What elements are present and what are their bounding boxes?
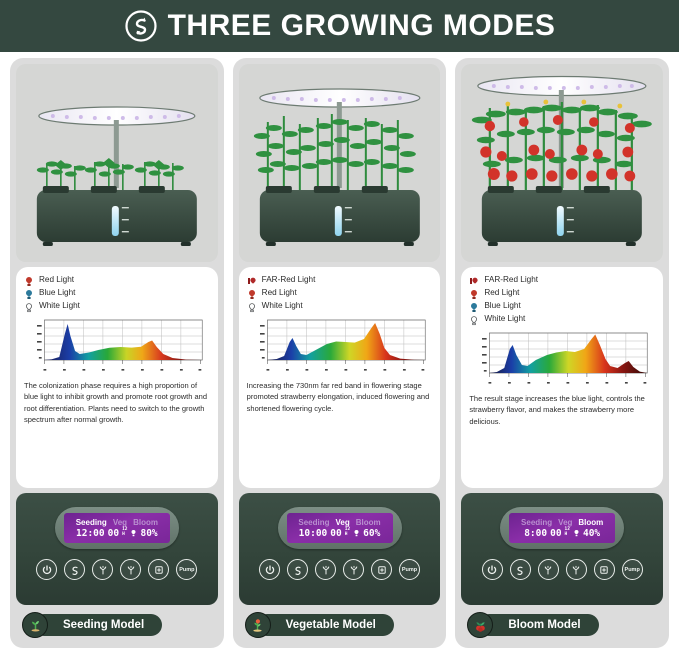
control-panel-vegetable: Seeding Veg Bloom 10:00 00 12H 60%	[239, 493, 441, 605]
lcd-unit: 12H	[122, 528, 127, 537]
spectrum-card-vegetable: FAR-Red Light Red Light White Light	[239, 267, 441, 488]
sprout-icon	[22, 612, 48, 638]
legend-item: White Light	[247, 300, 433, 311]
lcd-timer: 12:00	[76, 528, 105, 539]
far-red-bulb-icon	[247, 274, 257, 285]
lcd-readout: 10:00 00 12H 60%	[299, 528, 381, 539]
legend-label: FAR-Red Light	[262, 275, 316, 284]
lcd-mode-bloom: Bloom	[356, 518, 381, 527]
power-icon[interactable]	[36, 559, 57, 580]
touch-button-row: Pump	[259, 559, 420, 580]
legend-label: White Light	[39, 301, 80, 310]
fan-icon[interactable]	[148, 559, 169, 580]
spectrum-chart-seeding	[24, 314, 210, 376]
mode-cycle-icon[interactable]	[510, 559, 531, 580]
plant-light-icon[interactable]	[538, 559, 559, 580]
far-red-bulb-icon	[469, 274, 479, 285]
blue-bulb-icon	[469, 300, 479, 311]
lcd-mode-row: Seeding Veg Bloom	[521, 518, 603, 527]
spectrum-chart-bloom	[469, 327, 655, 389]
white-bulb-icon	[247, 300, 257, 311]
lcd-mode-row: Seeding Veg Bloom	[76, 518, 158, 527]
lcd-bezel: Seeding Veg Bloom 10:00 00 12H 60%	[278, 507, 402, 549]
control-panel-seeding: Seeding Veg Bloom 12:00 00 12H 80%	[16, 493, 218, 605]
lcd-bezel: Seeding Veg Bloom 12:00 00 12H 80%	[55, 507, 179, 549]
lcd-timer: 8:00	[524, 528, 547, 539]
product-photo-seeding	[16, 64, 218, 262]
legend-item: FAR-Red Light	[469, 274, 655, 285]
control-panel-bloom: Seeding Veg Bloom 8:00 00 12H 40%	[461, 493, 663, 605]
flowering-plant-icon	[245, 612, 271, 638]
lcd-brightness-value: 80%	[140, 528, 157, 539]
lcd-brightness-value: 40%	[583, 528, 600, 539]
lcd-brightness-value: 60%	[363, 528, 380, 539]
legend-item: Red Light	[24, 274, 210, 285]
lcd-display[interactable]: Seeding Veg Bloom 10:00 00 12H 60%	[287, 513, 393, 543]
pump-label: Pump	[625, 567, 640, 573]
legend-label: Red Light	[262, 288, 297, 297]
spectrum-card-bloom: FAR-Red Light Red Light Blue Light	[461, 267, 663, 488]
model-badge-vegetable: Vegetable Model	[239, 610, 441, 640]
lcd-mode-seeding: Seeding	[76, 518, 107, 527]
lcd-mode-seeding: Seeding	[298, 518, 329, 527]
power-icon[interactable]	[482, 559, 503, 580]
plant-light-icon[interactable]	[315, 559, 336, 580]
lcd-mode-row: Seeding Veg Bloom	[298, 518, 380, 527]
mode-cycle-icon[interactable]	[64, 559, 85, 580]
product-photo-bloom	[461, 64, 663, 262]
spectrum-legend-bloom: FAR-Red Light Red Light Blue Light	[469, 274, 655, 324]
pump-label: Pump	[402, 567, 417, 573]
red-bulb-icon	[247, 287, 257, 298]
legend-item: Blue Light	[24, 287, 210, 298]
mode-cycle-icon[interactable]	[287, 559, 308, 580]
spectrum-card-seeding: Red Light Blue Light White Light	[16, 267, 218, 488]
lcd-brightness-icon	[130, 529, 137, 537]
lcd-seconds: 00	[550, 528, 561, 539]
blue-bulb-icon	[24, 287, 34, 298]
mode-panel-bloom: FAR-Red Light Red Light Blue Light	[455, 58, 669, 648]
lcd-timer: 10:00	[299, 528, 328, 539]
lcd-display[interactable]: Seeding Veg Bloom 8:00 00 12H 40%	[509, 513, 615, 543]
touch-button-row: Pump	[36, 559, 197, 580]
fan-icon[interactable]	[594, 559, 615, 580]
lcd-mode-veg: Veg	[336, 518, 350, 527]
pump-label: Pump	[179, 567, 194, 573]
model-label: Bloom Model	[508, 619, 580, 631]
plant-light-2-icon[interactable]	[343, 559, 364, 580]
legend-item: White Light	[469, 313, 655, 324]
page-title: THREE GROWING MODES	[168, 9, 556, 43]
legend-item: Red Light	[469, 287, 655, 298]
white-bulb-icon	[469, 313, 479, 324]
spectrum-chart-vegetable	[247, 314, 433, 376]
mode-panel-vegetable: FAR-Red Light Red Light White Light	[233, 58, 447, 648]
power-icon[interactable]	[259, 559, 280, 580]
pump-button[interactable]: Pump	[176, 559, 197, 580]
spectrum-legend-vegetable: FAR-Red Light Red Light White Light	[247, 274, 433, 311]
mode-description: The colonization phase requires a high p…	[24, 380, 210, 425]
legend-item: FAR-Red Light	[247, 274, 433, 285]
lcd-display[interactable]: Seeding Veg Bloom 12:00 00 12H 80%	[64, 513, 170, 543]
lcd-mode-bloom: Bloom	[578, 518, 603, 527]
growing-modes-panels: Red Light Blue Light White Light	[0, 52, 679, 652]
legend-item: White Light	[24, 300, 210, 311]
lcd-brightness-icon	[353, 529, 360, 537]
legend-label: White Light	[262, 301, 303, 310]
white-bulb-icon	[24, 300, 34, 311]
spectrum-legend-seeding: Red Light Blue Light White Light	[24, 274, 210, 311]
legend-label: FAR-Red Light	[484, 275, 538, 284]
model-pill: Bloom Model	[478, 614, 598, 636]
lcd-unit: 12H	[345, 528, 350, 537]
lcd-unit: 12H	[565, 528, 570, 537]
red-bulb-icon	[469, 287, 479, 298]
touch-button-row: Pump	[482, 559, 643, 580]
plant-light-2-icon[interactable]	[120, 559, 141, 580]
legend-label: Red Light	[39, 275, 74, 284]
mode-description: Increasing the 730nm far red band in flo…	[247, 380, 433, 414]
mode-description: The result stage increases the blue ligh…	[469, 393, 655, 427]
lcd-seconds: 00	[108, 528, 119, 539]
lcd-readout: 12:00 00 12H 80%	[76, 528, 158, 539]
red-bulb-icon	[24, 274, 34, 285]
lcd-seconds: 00	[330, 528, 341, 539]
plant-light-icon[interactable]	[92, 559, 113, 580]
lcd-mode-seeding: Seeding	[521, 518, 552, 527]
legend-label: Blue Light	[39, 288, 75, 297]
cycle-icon	[124, 9, 158, 43]
fan-icon[interactable]	[371, 559, 392, 580]
legend-label: Red Light	[484, 288, 519, 297]
lcd-mode-veg: Veg	[113, 518, 127, 527]
model-pill: Seeding Model	[33, 614, 162, 636]
plant-light-2-icon[interactable]	[566, 559, 587, 580]
lcd-brightness-icon	[573, 529, 580, 537]
pump-button[interactable]: Pump	[622, 559, 643, 580]
pump-button[interactable]: Pump	[399, 559, 420, 580]
legend-label: Blue Light	[484, 301, 520, 310]
model-badge-seeding: Seeding Model	[16, 610, 218, 640]
lcd-mode-veg: Veg	[558, 518, 572, 527]
legend-item: Blue Light	[469, 300, 655, 311]
model-label: Vegetable Model	[286, 619, 376, 631]
lcd-readout: 8:00 00 12H 40%	[524, 528, 600, 539]
model-label: Seeding Model	[63, 619, 144, 631]
lcd-bezel: Seeding Veg Bloom 8:00 00 12H 40%	[500, 507, 624, 549]
mode-panel-seeding: Red Light Blue Light White Light	[10, 58, 224, 648]
lcd-mode-bloom: Bloom	[133, 518, 158, 527]
product-photo-vegetable	[239, 64, 441, 262]
legend-label: White Light	[484, 314, 525, 323]
page-header: THREE GROWING MODES	[0, 0, 679, 52]
legend-item: Red Light	[247, 287, 433, 298]
model-badge-bloom: Bloom Model	[461, 610, 663, 640]
model-pill: Vegetable Model	[256, 614, 394, 636]
